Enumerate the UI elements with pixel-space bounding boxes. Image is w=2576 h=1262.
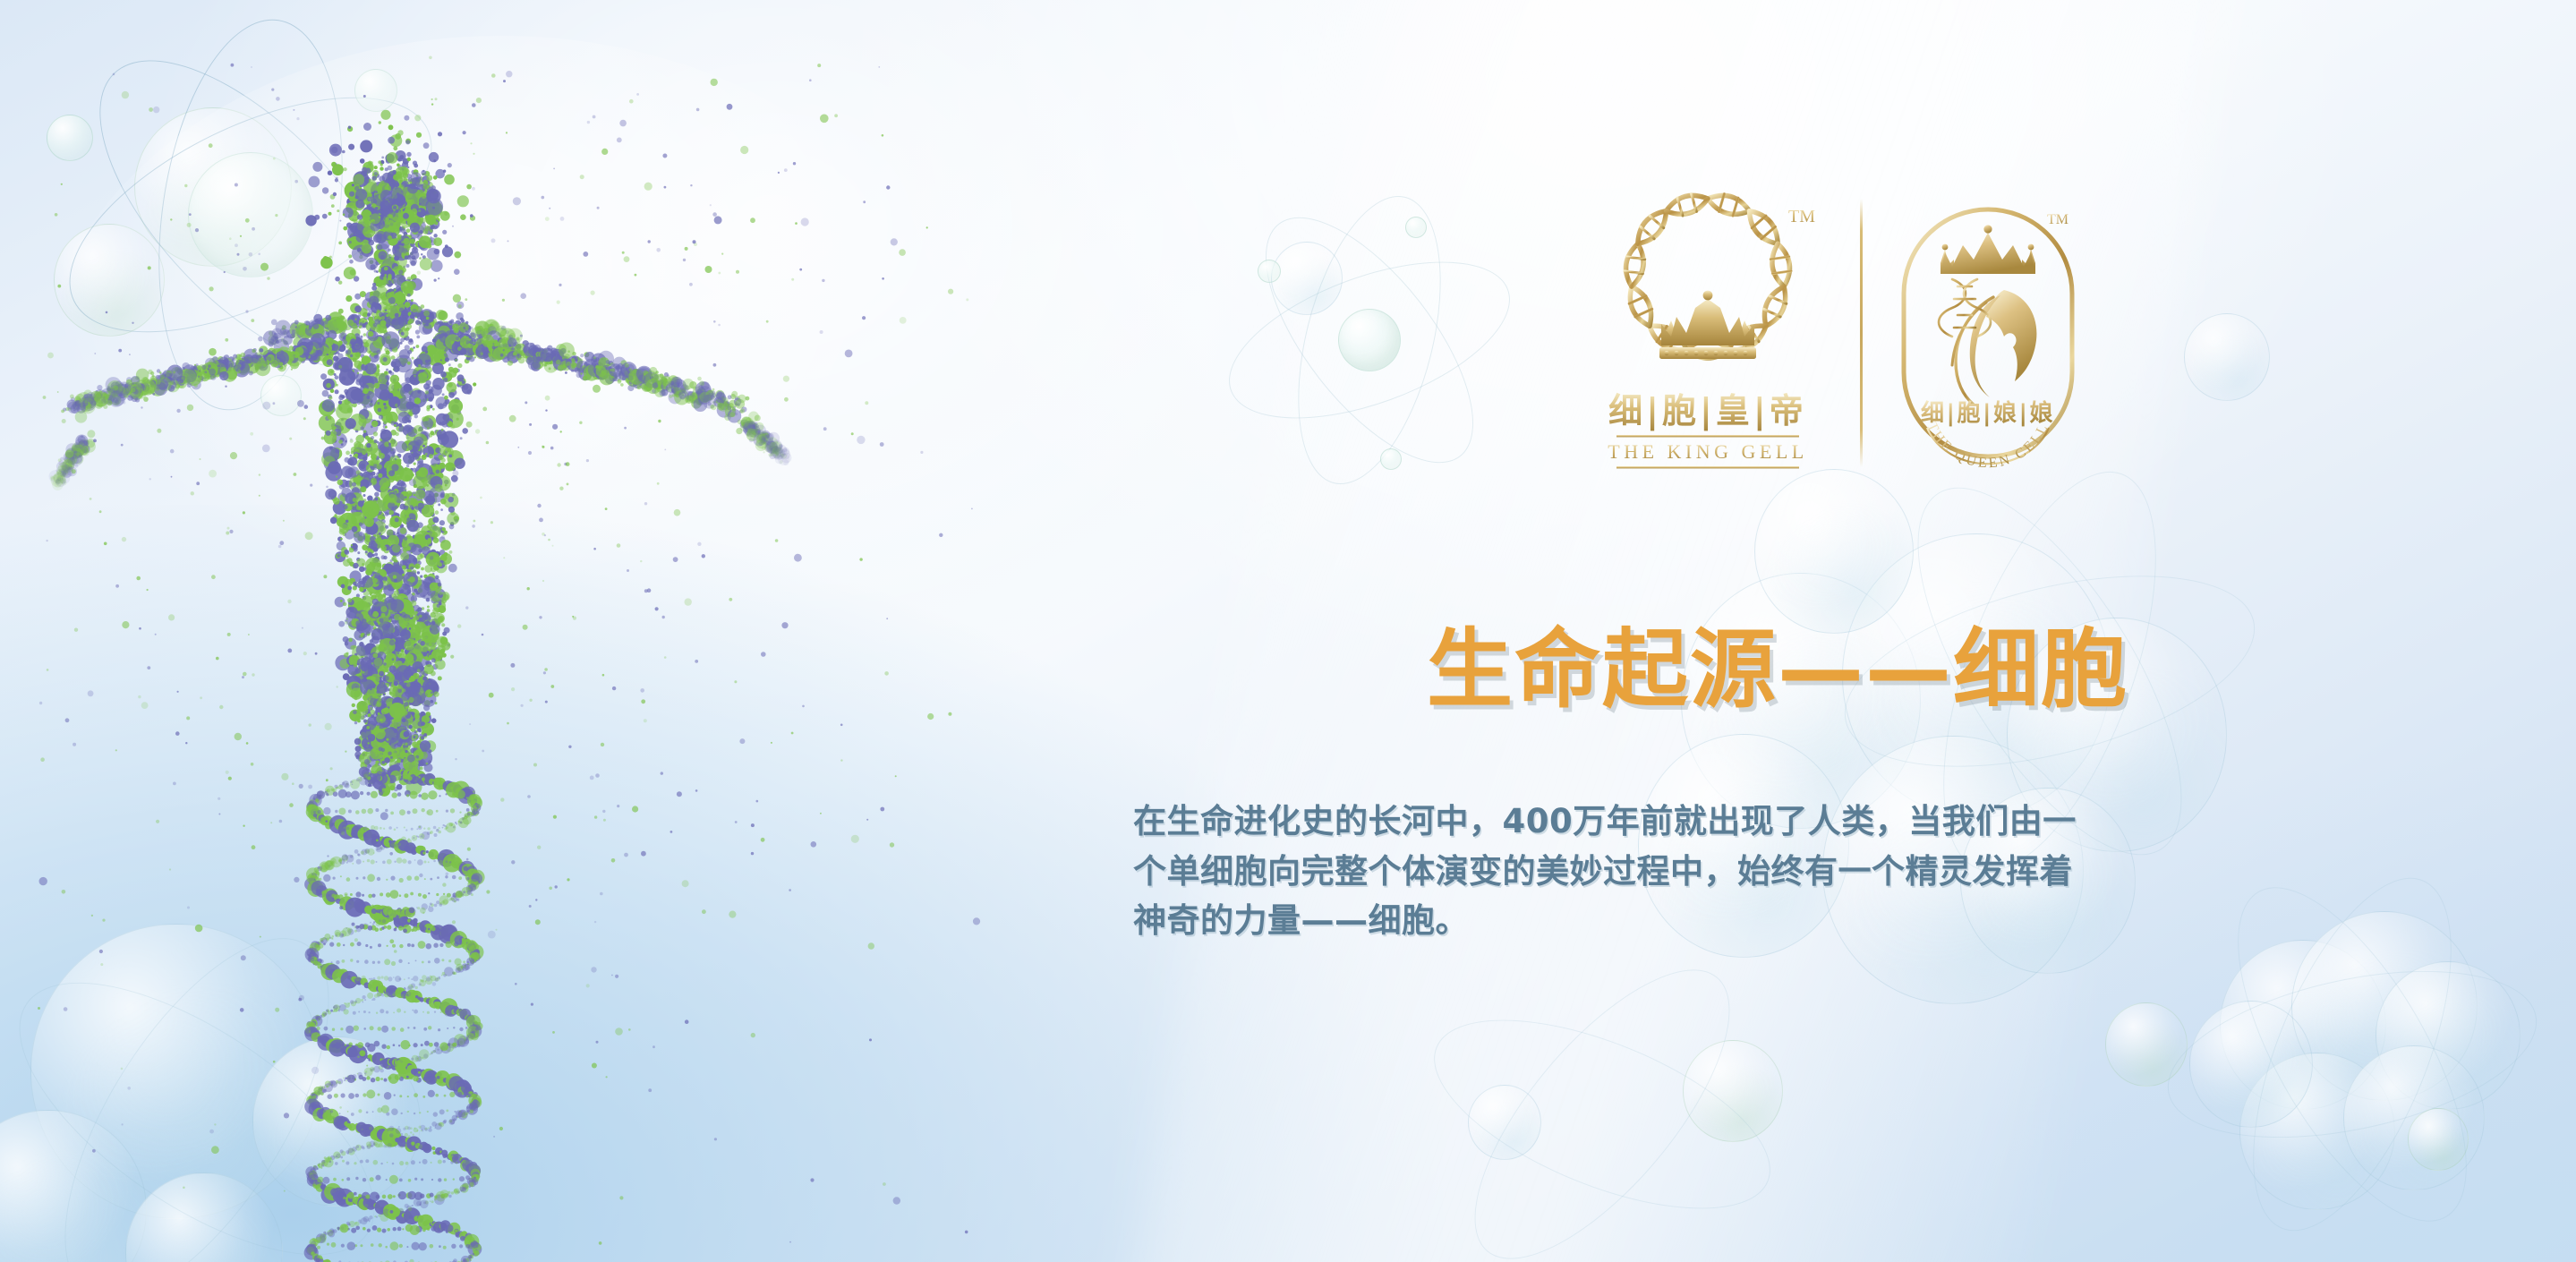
poster-description: 在生命进化史的长河中，400万年前就出现了人类，当我们由一 个单细胞向完整个体演… xyxy=(1133,797,2315,946)
trademark-symbol-king: TM xyxy=(1788,207,1815,226)
brand-logo-group: TM 细|胞|皇|帝 THE KING GELL xyxy=(1586,190,2083,476)
logo-cn-name-king: 细|胞|皇|帝 xyxy=(1608,391,1807,431)
description-line: 神奇的力量——细胞。 xyxy=(1133,896,2315,946)
poster-canvas: TM 细|胞|皇|帝 THE KING GELL xyxy=(0,0,2576,1262)
crown-icon xyxy=(1659,291,1756,359)
logo-the-king-gell[interactable]: TM 细|胞|皇|帝 THE KING GELL xyxy=(1586,190,1830,476)
logo-the-queen-cell[interactable]: TM xyxy=(1893,190,2083,476)
trademark-symbol-queen: TM xyxy=(2047,212,2068,227)
crown-icon xyxy=(1941,225,2035,274)
page-title: 生命起源——细胞 xyxy=(1427,627,2128,714)
logo-en-name-king: THE KING GELL xyxy=(1608,440,1807,463)
woman-profile-icon xyxy=(1939,279,2036,405)
description-line: 个单细胞向完整个体演变的美妙过程中，始终有一个精灵发挥着 xyxy=(1133,847,2315,897)
dna-strand-icon xyxy=(1939,279,1991,337)
logo-divider xyxy=(1860,199,1863,467)
logo-en-name-queen: THE QUEEN CELL xyxy=(1923,420,2051,471)
logo-cn-name-queen: 细|胞|娘|娘 xyxy=(1921,399,2055,427)
description-line: 在生命进化史的长河中，400万年前就出现了人类，当我们由一 xyxy=(1133,797,2315,847)
